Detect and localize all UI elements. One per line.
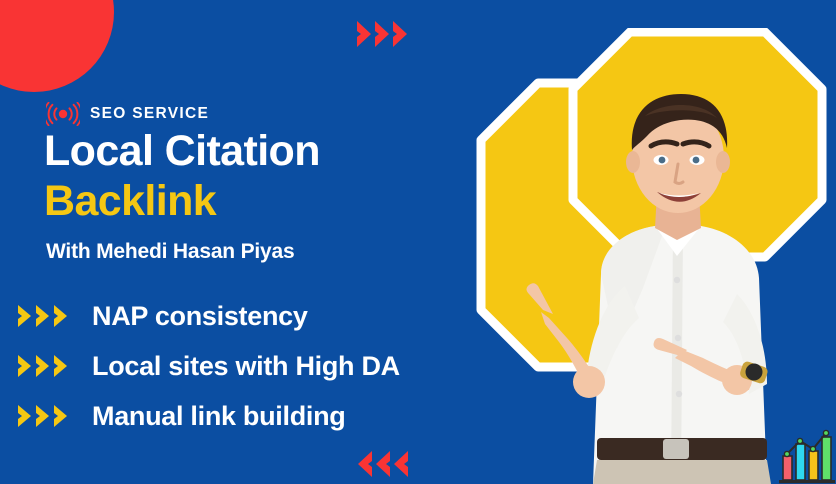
eyebrow-label: SEO SERVICE bbox=[90, 105, 209, 123]
feature-list: NAP consistency Local sites with High DA… bbox=[16, 291, 466, 441]
list-item: Manual link building bbox=[16, 391, 466, 441]
growth-bar-chart-icon bbox=[776, 428, 836, 484]
businessman-pointing-photo bbox=[505, 88, 835, 484]
content-column: SEO SERVICE Local Citation Backlink With… bbox=[0, 0, 470, 484]
seo-service-banner: SEO SERVICE Local Citation Backlink With… bbox=[0, 0, 836, 484]
triple-chevron-right-icon bbox=[16, 353, 72, 379]
feature-label: Local sites with High DA bbox=[92, 351, 400, 382]
headline-line-1: Local Citation bbox=[44, 126, 464, 176]
list-item: Local sites with High DA bbox=[16, 341, 466, 391]
list-item: NAP consistency bbox=[16, 291, 466, 341]
eyebrow-badge: SEO SERVICE bbox=[46, 100, 209, 128]
subtitle: With Mehedi Hasan Piyas bbox=[46, 240, 294, 264]
triple-chevron-right-icon bbox=[16, 403, 72, 429]
headline-line-2: Backlink bbox=[44, 176, 464, 226]
feature-label: Manual link building bbox=[92, 401, 346, 432]
headline: Local Citation Backlink bbox=[44, 126, 464, 226]
feature-label: NAP consistency bbox=[92, 301, 308, 332]
broadcast-signal-icon bbox=[46, 102, 80, 126]
triple-chevron-right-icon bbox=[16, 303, 72, 329]
